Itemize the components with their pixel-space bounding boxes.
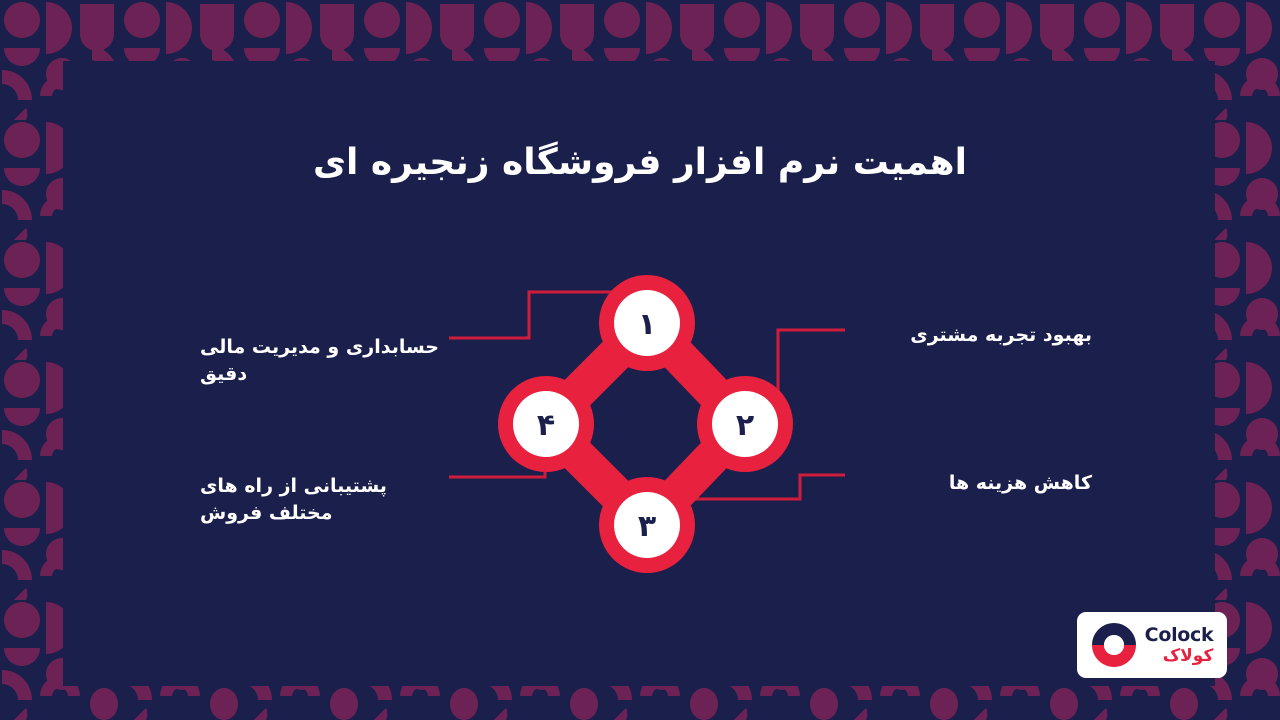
- label-sales-channels: پشتیبانی از راه های مختلف فروش: [200, 473, 445, 527]
- node-1-number: ۱: [638, 307, 656, 342]
- node-4-number: ۴: [537, 408, 555, 443]
- brand-name-latin: Colock: [1145, 626, 1214, 645]
- node-2: ۲: [697, 376, 793, 472]
- node-3: ۳: [599, 477, 695, 573]
- label-customer-experience: بهبود تجربه مشتری: [862, 322, 1092, 349]
- brand-logo-text: Colock کولاک: [1145, 626, 1214, 665]
- node-4: ۴: [498, 376, 594, 472]
- label-accounting: حسابداری و مدیریت مالی دقیق: [200, 334, 445, 388]
- connector-node1-left: [449, 292, 612, 338]
- label-cost-reduction: کاهش هزینه ها: [862, 470, 1092, 497]
- node-3-number: ۳: [638, 509, 656, 544]
- brand-name-persian: کولاک: [1163, 648, 1214, 665]
- brand-logo-card[interactable]: Colock کولاک: [1077, 612, 1227, 678]
- brand-mark-icon: [1091, 622, 1137, 668]
- node-2-number: ۲: [736, 408, 754, 443]
- node-1: ۱: [599, 275, 695, 371]
- slide-root: اهمیت نرم افزار فروشگاه زنجیره ای: [0, 0, 1280, 720]
